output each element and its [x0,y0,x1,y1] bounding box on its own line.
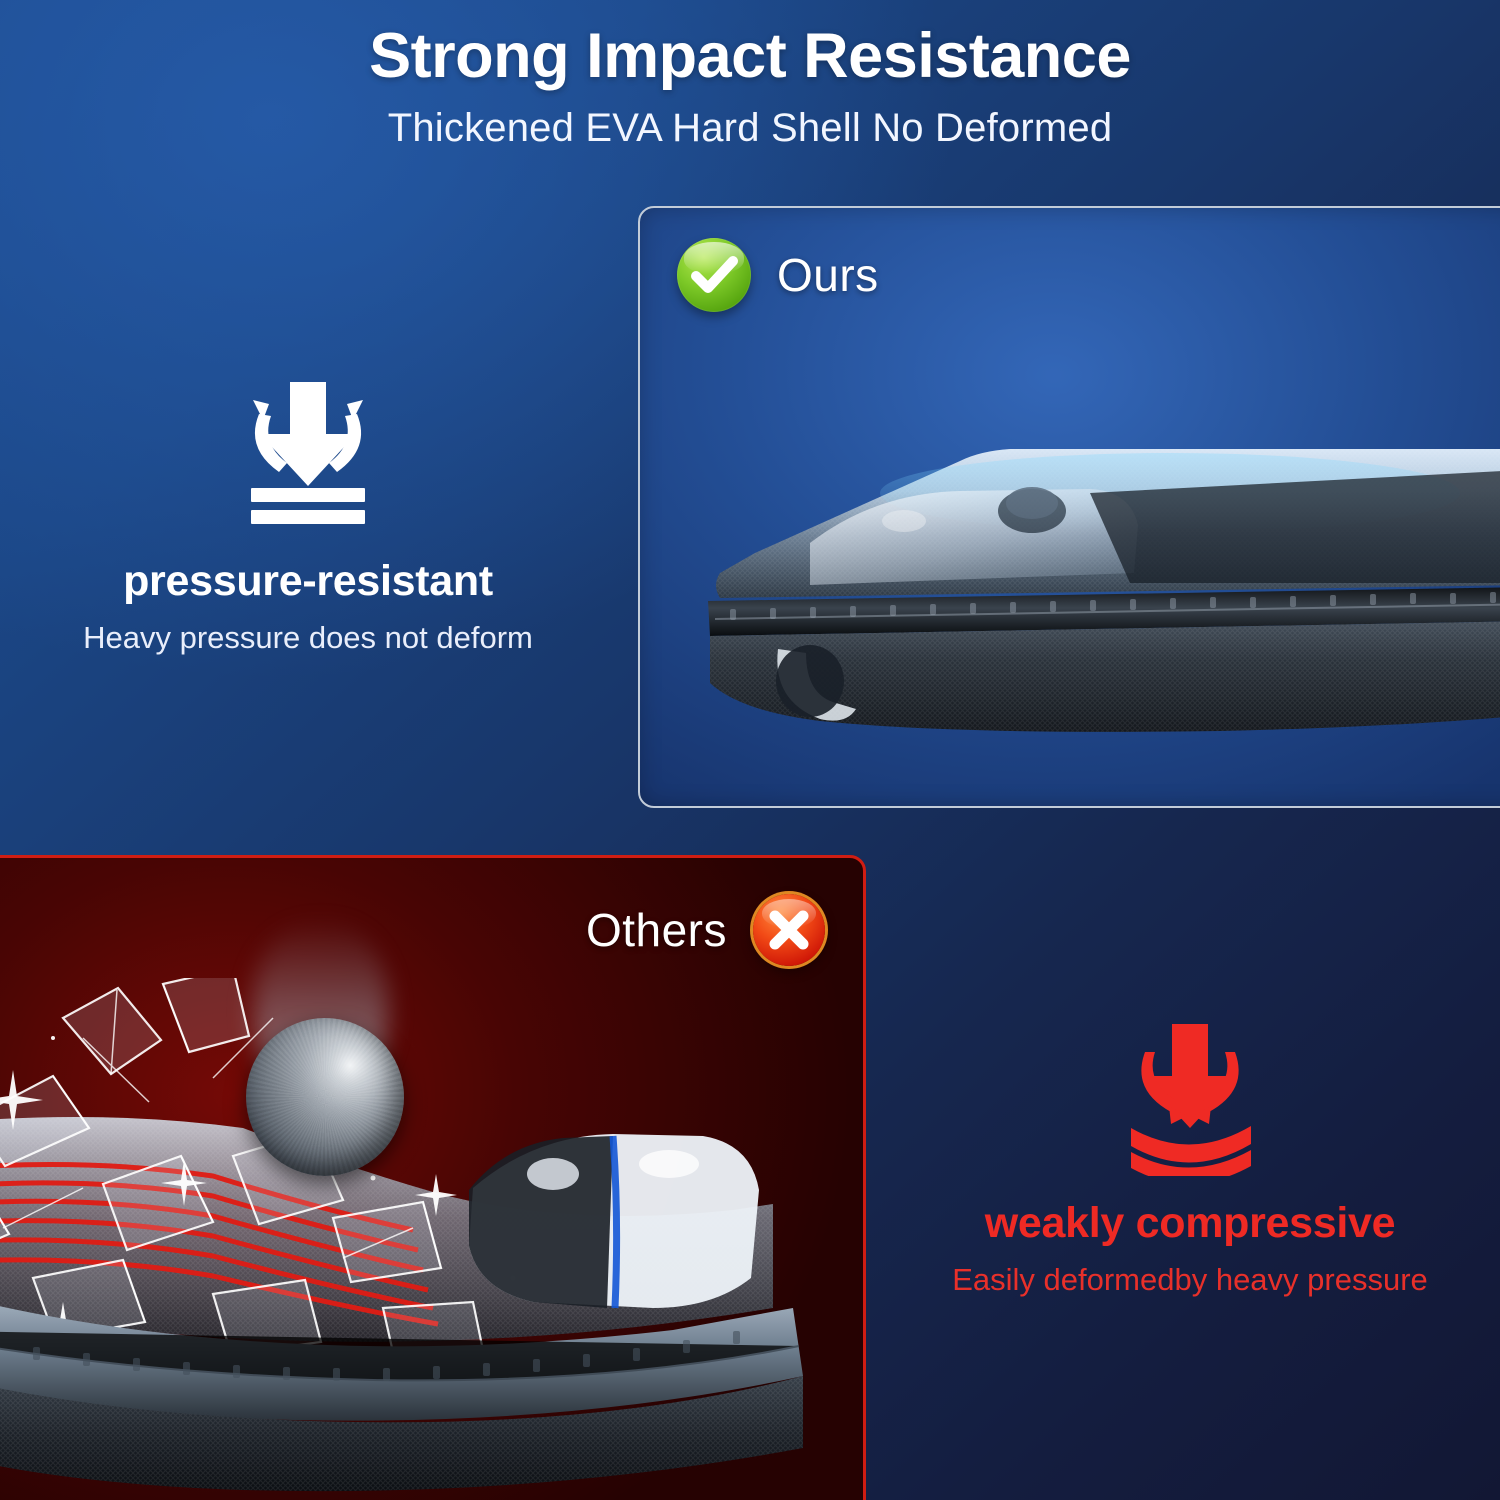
feature-pressure-resistant: pressure-resistant Heavy pressure does n… [18,378,598,656]
down-arrow-on-bent-layers-icon [1105,1020,1275,1176]
steel-ball-icon [246,1018,404,1176]
feature-weakly-compressive: weakly compressive Easily deformedby hea… [898,1020,1482,1298]
feature-subtitle: Easily deformedby heavy pressure [898,1262,1482,1298]
feature-subtitle: Heavy pressure does not deform [18,620,598,656]
header: Strong Impact Resistance Thickened EVA H… [0,0,1500,151]
feature-title: weakly compressive [898,1199,1482,1248]
ours-label: Ours [777,248,879,302]
feature-title: pressure-resistant [18,557,598,606]
ours-badge: Ours [677,238,879,312]
down-arrow-on-flat-layers-icon [223,378,393,534]
page-title: Strong Impact Resistance [0,0,1500,92]
others-badge: Others [586,894,825,966]
others-label: Others [586,903,727,957]
ours-comparison-panel: Ours [638,206,1500,808]
page-subtitle: Thickened EVA Hard Shell No Deformed [0,92,1500,151]
green-check-icon [677,238,751,312]
red-cross-icon [753,894,825,966]
others-comparison-panel: Others [0,855,866,1500]
promo-graphic: Strong Impact Resistance Thickened EVA H… [0,0,1500,1500]
others-broken-case-illustration [0,978,866,1500]
ours-case-illustration [660,433,1500,753]
